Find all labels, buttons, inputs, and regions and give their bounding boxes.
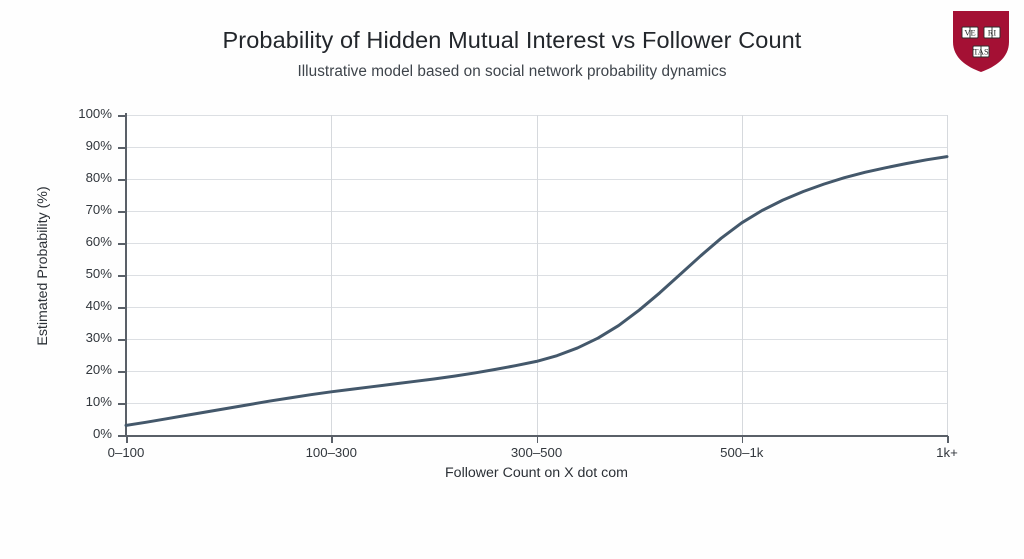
logo-book-right-text: RI [988, 28, 997, 38]
x-axis-title: Follower Count on X dot com [126, 465, 947, 481]
y-axis-tick-mark [118, 371, 125, 373]
gridline-vertical [947, 115, 948, 435]
sigmoid-line [126, 157, 947, 426]
y-axis-tick-mark [118, 115, 125, 117]
x-axis-tick-label: 0–100 [108, 445, 145, 460]
chart-subtitle: Illustrative model based on social netwo… [0, 63, 1024, 81]
y-axis-tick-mark [118, 403, 125, 405]
x-axis-tick-label: 1k+ [936, 445, 958, 460]
y-axis-tick-label: 60% [66, 234, 112, 249]
chart-page: Probability of Hidden Mutual Interest vs… [0, 0, 1024, 559]
y-axis-tick-label: 0% [66, 426, 112, 441]
y-axis-tick-label: 40% [66, 298, 112, 313]
logo-book-left-text: VE [964, 28, 975, 38]
logo-book-bottom-text: TAS [973, 47, 989, 57]
y-axis-tick-label: 10% [66, 394, 112, 409]
y-axis-tick-label: 80% [66, 170, 112, 185]
y-axis-tick-mark [118, 147, 125, 149]
y-axis-tick-mark [118, 179, 125, 181]
x-axis-tick-mark [947, 436, 949, 443]
x-axis-tick-label: 300–500 [511, 445, 562, 460]
y-axis-tick-mark [118, 243, 125, 245]
y-axis-tick-label: 70% [66, 202, 112, 217]
x-axis-tick-label: 100–300 [306, 445, 357, 460]
x-axis-tick-mark [742, 436, 744, 443]
y-axis-tick-label: 100% [66, 106, 112, 121]
x-axis-tick-label: 500–1k [720, 445, 763, 460]
y-axis-tick-mark [118, 211, 125, 213]
y-axis-tick-mark [118, 435, 125, 437]
y-axis-tick-mark [118, 275, 125, 277]
x-axis-tick-mark [537, 436, 539, 443]
x-axis-tick-mark [331, 436, 333, 443]
y-axis-title: Estimated Probability (%) [35, 166, 51, 366]
y-axis-tick-label: 90% [66, 138, 112, 153]
y-axis-tick-labels: 0%10%20%30%40%50%60%70%80%90%100% [60, 0, 112, 559]
y-axis-tick-mark [118, 339, 125, 341]
page-title: Probability of Hidden Mutual Interest vs… [0, 27, 1024, 54]
x-axis-tick-mark [126, 436, 128, 443]
data-series-probability-curve [126, 115, 947, 435]
y-axis-tick-label: 30% [66, 330, 112, 345]
y-axis-tick-label: 20% [66, 362, 112, 377]
harvard-veritas-shield-logo: VE RI TAS [950, 8, 1012, 74]
y-axis-tick-mark [118, 307, 125, 309]
y-axis-tick-label: 50% [66, 266, 112, 281]
